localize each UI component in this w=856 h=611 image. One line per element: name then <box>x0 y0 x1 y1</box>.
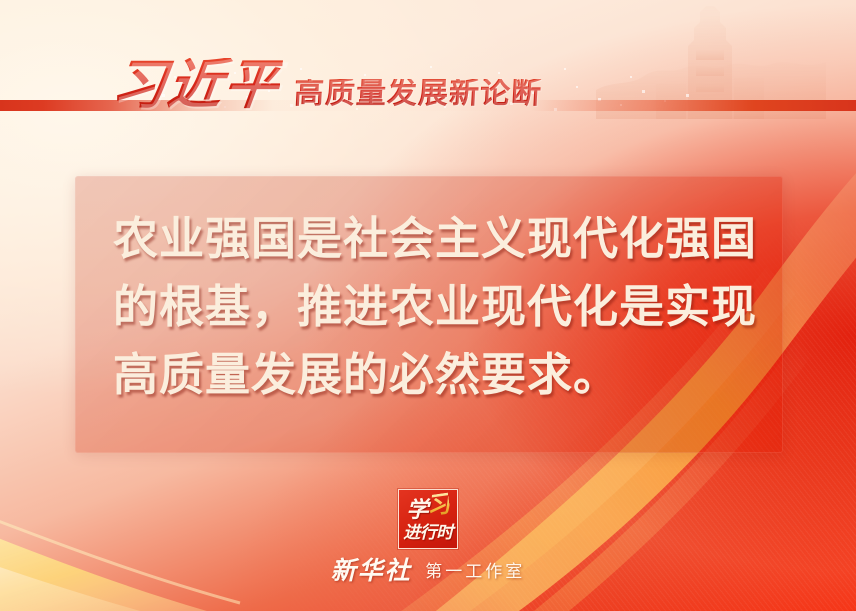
header-title-group: 习近平 高质量发展新论断 <box>112 58 542 112</box>
page-subtitle: 高质量发展新论断 <box>293 79 543 109</box>
quote-text: 农业强国是社会主义现代化强国 的根基，推进农业现代化是实现 高质量发展的必然要求… <box>113 205 763 409</box>
credit-line: 新华社 第一工作室 <box>0 551 856 587</box>
poster-canvas: 习近平 高质量发展新论断 农业强国是社会主义现代化强国 的根基，推进农业现代化是… <box>0 0 856 611</box>
logo-bottom-row: 进行时 <box>403 524 453 541</box>
quote-line: 高质量发展的必然要求。 <box>113 341 763 409</box>
quote-line: 的根基，推进农业现代化是实现 <box>113 273 763 341</box>
credit-agency-name: 新华社 <box>331 557 412 585</box>
xuexi-jinxingshi-logo[interactable]: 学 习 进行时 <box>398 489 458 549</box>
logo-top-row: 学 习 <box>406 497 449 521</box>
page-title: 习近平 <box>109 58 284 112</box>
logo-char-xi: 习 <box>425 492 451 519</box>
credit-studio-name: 第一工作室 <box>425 562 525 581</box>
logo-char-xue: 学 <box>406 499 427 521</box>
quote-line: 农业强国是社会主义现代化强国 <box>113 205 763 273</box>
